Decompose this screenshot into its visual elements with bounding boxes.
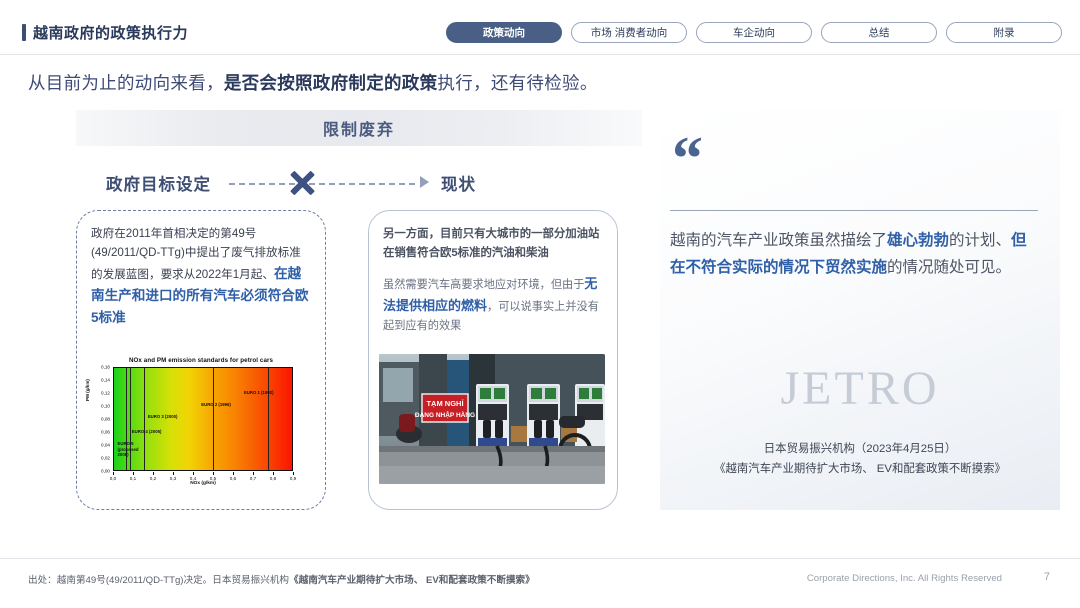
attribution-line-1: 日本贸易振兴机构（2023年4月25日） — [660, 440, 1060, 460]
chart-xtick-label: 0,4 — [190, 476, 196, 481]
chart-ytick-label: 0,14 — [101, 378, 110, 383]
sign-line-1: TẠM NGHỈ — [426, 399, 463, 408]
chart-heatmap-region: EURO 5(proposed2008)EURO 4 (2005)EURO 3 … — [113, 367, 293, 471]
sign-line-2: ĐANG NHẬP HÀNG — [415, 410, 475, 419]
slide-root: 越南政府的政策执行力 政策动向 市场 消费者动向 车企动向 总结 附录 从目前为… — [0, 0, 1080, 608]
left-content-panel: 限制废弃 政府目标设定 现状 政府在2011年首相决定的第49号(49/2011… — [76, 110, 642, 540]
chart-xtick-label: 0,1 — [130, 476, 136, 481]
emission-standards-chart: NOx and PM emission standards for petrol… — [85, 357, 317, 499]
gas-station-illustration: TẠM NGHỈ ĐANG NHẬP HÀNG — [379, 354, 605, 484]
title-accent-bar — [22, 24, 26, 41]
reality-box-para1: 另一方面，目前只有大城市的一部分加油站在销售符合欧5标准的汽油和柴油 — [383, 225, 603, 263]
chart-zone-label: EURO 4 (2005) — [132, 429, 162, 434]
quote-panel: “ 越南的汽车产业政策虽然描绘了雄心勃勃的计划、但在不符合实际的情况下贸然实施的… — [660, 110, 1060, 510]
chart-xtick-label: 0,2 — [150, 476, 156, 481]
subtitle-bold: 是否会按照政府制定的政策 — [224, 73, 438, 93]
flow-label-reality: 现状 — [441, 171, 476, 195]
chart-ylabel: PM (g/km) — [85, 379, 90, 401]
quote-seg2: 的计划、 — [949, 232, 1011, 249]
page-title-wrap: 越南政府的政策执行力 — [22, 22, 188, 43]
chart-xtick-label: 0,7 — [250, 476, 256, 481]
goal-text-normal: 政府在2011年首相决定的第49号(49/2011/QD-TTg)中提出了废气排… — [91, 227, 301, 281]
source-prefix: 出处：越南第49号(49/2011/QD-TTg)决定。日本贸易振兴机构 — [28, 575, 289, 586]
chart-ytick-label: 0,00 — [101, 469, 110, 474]
reality-box-para2: 虽然需要汽车高要求地应对环境，但由于无法提供相应的燃料，可以说事实上并没有起到应… — [383, 273, 603, 336]
chart-title: NOx and PM emission standards for petrol… — [85, 357, 317, 364]
tab-summary[interactable]: 总结 — [821, 22, 937, 43]
attribution-line-2: 《越南汽车产业期待扩大市场、 EV和配套政策不断摸索》 — [660, 460, 1060, 480]
chart-xtick-label: 0,6 — [230, 476, 236, 481]
reality-para2-a: 虽然需要汽车高要求地应对环境，但由于 — [383, 279, 584, 291]
footer-divider — [0, 558, 1080, 559]
chart-zone-boundary — [213, 368, 214, 470]
goal-box: 政府在2011年首相决定的第49号(49/2011/QD-TTg)中提出了废气排… — [76, 210, 326, 510]
quote-mark-icon: “ — [672, 128, 703, 190]
jetro-logo: JETRO — [660, 365, 1060, 413]
chart-ytick-label: 0,04 — [101, 443, 110, 448]
tab-appendix[interactable]: 附录 — [946, 22, 1062, 43]
subtitle-part1: 从目前为止的动向来看， — [28, 73, 224, 93]
chart-xtick-label: 0,5 — [210, 476, 216, 481]
quote-seg3: 的情况随处可见。 — [887, 259, 1011, 276]
chart-zone-label: EURO 2 (1996) — [201, 402, 231, 407]
tab-policy-trends[interactable]: 政策动向 — [446, 22, 562, 43]
chart-ytick-label: 0,16 — [101, 365, 110, 370]
arrow-head-icon — [420, 176, 429, 188]
page-title: 越南政府的政策执行力 — [33, 22, 188, 43]
chart-zone-label: EURO 1 (1992) — [244, 390, 274, 395]
goal-box-text: 政府在2011年首相决定的第49号(49/2011/QD-TTg)中提出了废气排… — [91, 225, 311, 329]
quote-attribution: 日本贸易振兴机构（2023年4月25日） 《越南汽车产业期待扩大市场、 EV和配… — [660, 440, 1060, 480]
chart-xtick-label: 0,0 — [110, 476, 116, 481]
subtitle-line: 从目前为止的动向来看，是否会按照政府制定的政策执行，还有待检验。 — [28, 70, 928, 95]
chart-ytick-label: 0,12 — [101, 391, 110, 396]
tab-automaker-trends[interactable]: 车企动向 — [696, 22, 812, 43]
reality-box: 另一方面，目前只有大城市的一部分加油站在销售符合欧5标准的汽油和柴油 虽然需要汽… — [368, 210, 618, 510]
subtitle-part2: 执行，还有待检验。 — [437, 73, 597, 93]
chart-xtick-label: 0,3 — [170, 476, 176, 481]
chart-plot-area: PM (g/km) 0,000,020,040,060,080,100,120,… — [85, 367, 317, 489]
page-number: 7 — [1044, 571, 1050, 583]
section-tabs[interactable]: 政策动向 市场 消费者动向 车企动向 总结 附录 — [446, 22, 1062, 43]
tab-market-consumer-trends[interactable]: 市场 消费者动向 — [571, 22, 687, 43]
quote-text: 越南的汽车产业政策虽然描绘了雄心勃勃的计划、但在不符合实际的情况下贸然实施的情况… — [670, 228, 1042, 281]
chart-xlabel: NOx (g/km) — [113, 481, 293, 486]
vietnam-gas-station-photo: TẠM NGHỈ ĐANG NHẬP HÀNG — [379, 354, 605, 484]
chart-ytick-label: 0,02 — [101, 456, 110, 461]
section-band-title: 限制废弃 — [323, 116, 395, 140]
chart-xtick-label: 0,9 — [290, 476, 296, 481]
chart-zone-label: EURO 5(proposed2008) — [118, 441, 140, 457]
flow-connector — [229, 172, 429, 194]
header-divider — [0, 54, 1080, 55]
flow-row: 政府目标设定 现状 — [76, 166, 642, 200]
chart-zone-boundary — [144, 368, 145, 470]
dashed-arrow-line — [229, 183, 415, 185]
slide-header: 越南政府的政策执行力 政策动向 市场 消费者动向 车企动向 总结 附录 — [0, 22, 1080, 52]
quote-highlight-1: 雄心勃勃 — [887, 232, 949, 249]
cross-x-icon — [285, 166, 319, 200]
chart-zone-boundary — [268, 368, 269, 470]
quote-divider — [670, 210, 1038, 211]
chart-ytick-label: 0,10 — [101, 404, 110, 409]
chart-ytick-label: 0,08 — [101, 417, 110, 422]
source-footnote: 出处：越南第49号(49/2011/QD-TTg)决定。日本贸易振兴机构《越南汽… — [28, 572, 535, 586]
chart-yticks: 0,000,020,040,060,080,100,120,140,16 — [92, 367, 112, 471]
source-document: 《越南汽车产业期待扩大市场、 EV和配套政策不断摸索》 — [289, 575, 535, 586]
flow-label-goal: 政府目标设定 — [106, 171, 211, 195]
chart-zone-label: EURO 3 (2000) — [148, 414, 178, 419]
chart-ytick-label: 0,06 — [101, 430, 110, 435]
section-band: 限制废弃 — [76, 110, 642, 146]
quote-seg1: 越南的汽车产业政策虽然描绘了 — [670, 232, 887, 249]
copyright-text: Corporate Directions, Inc. All Rights Re… — [807, 573, 1002, 584]
chart-xtick-label: 0,8 — [270, 476, 276, 481]
